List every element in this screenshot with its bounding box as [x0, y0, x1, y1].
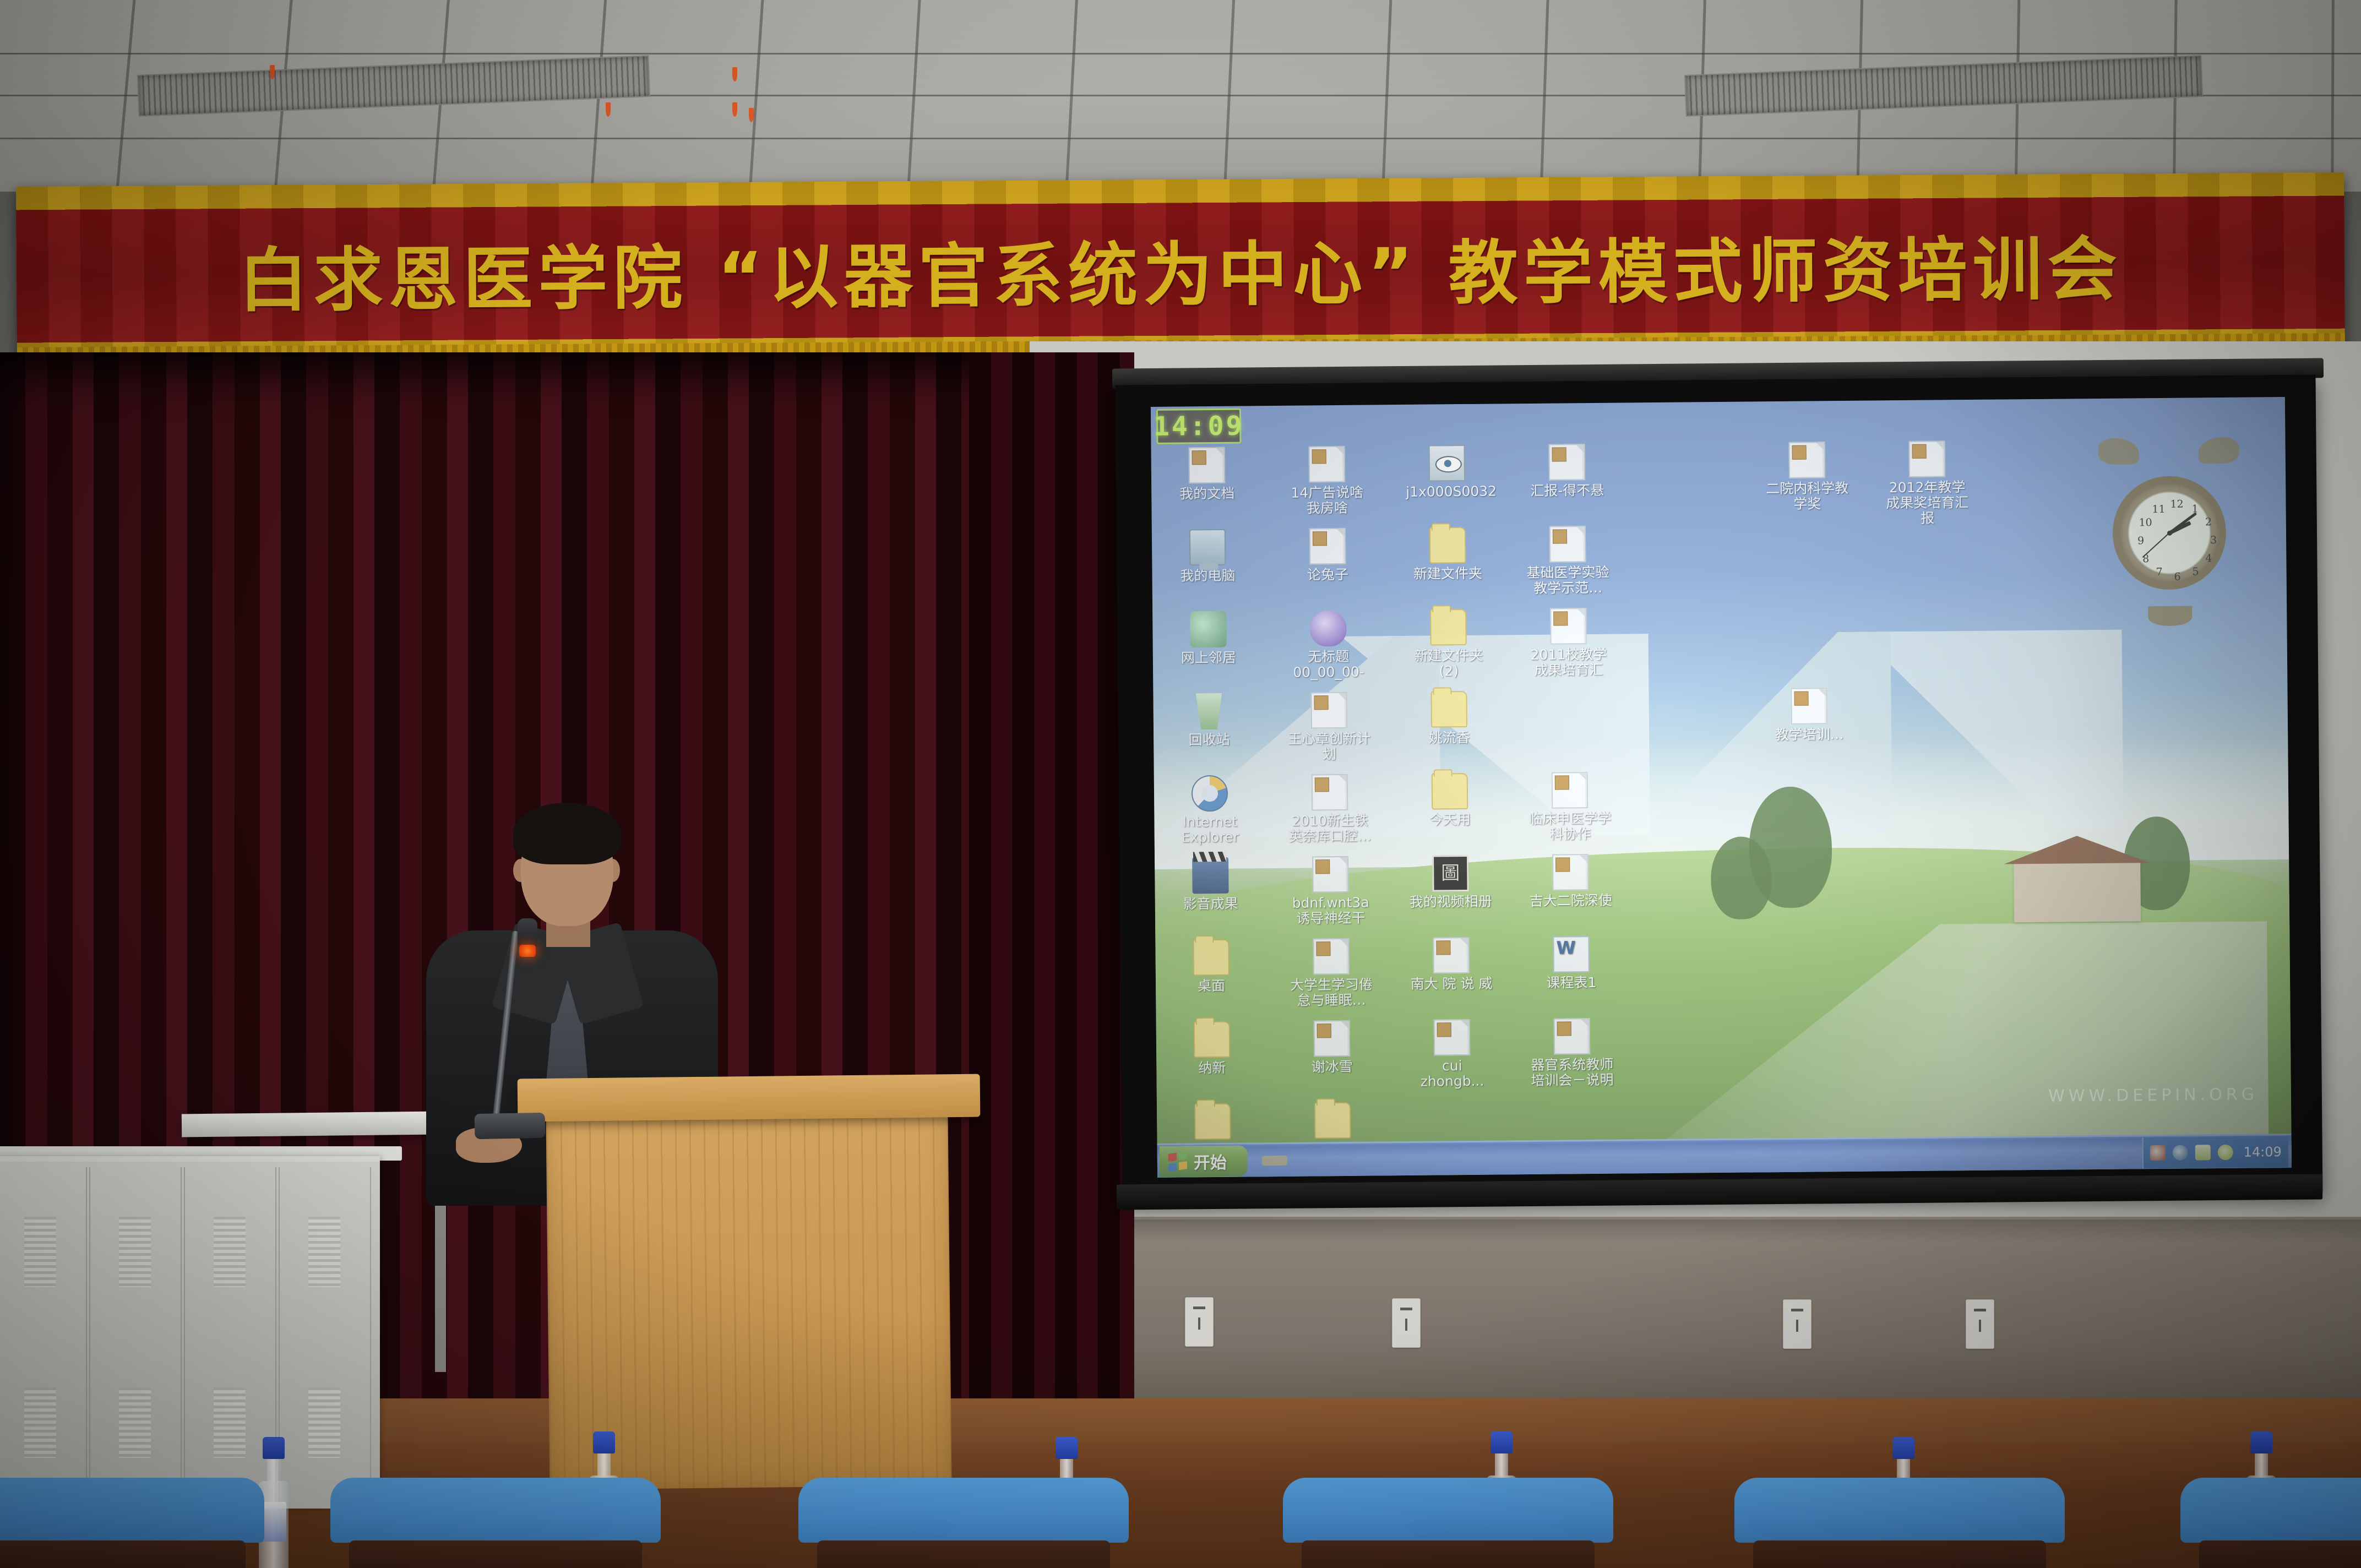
bottle-neck	[597, 1453, 611, 1476]
projection-screen: 14:09 121234567891011 WWW.DEEPIN.ORG 我的文…	[1116, 375, 2323, 1204]
ceiling-light-fixture	[1684, 55, 2203, 117]
desktop-icon[interactable]: 我的文档	[1166, 447, 1249, 502]
desktop-icon-label: 新建文件夹	[1406, 566, 1489, 582]
doc-icon	[1309, 446, 1346, 483]
folder-icon	[1429, 527, 1466, 564]
locker-door[interactable]	[0, 1167, 87, 1509]
volume-tray-icon[interactable]	[2172, 1145, 2188, 1160]
desktop-icon-label: 教学培训…	[1768, 727, 1851, 743]
desktop-icon-label: 大学生学习倦怠与睡眠…	[1290, 977, 1373, 1009]
chair-seat	[349, 1540, 642, 1568]
desktop-icon[interactable]: 课程表1	[1530, 936, 1613, 991]
desktop-icon[interactable]: 二院内科学教学奖	[1766, 442, 1849, 512]
desktop-icon[interactable]: cui zhongb...	[1411, 1019, 1494, 1090]
doc-icon	[1189, 447, 1226, 484]
clock-numeral: 7	[2152, 567, 2167, 578]
locker-door[interactable]	[279, 1167, 371, 1509]
desktop-icon-label: 2010新生铁英奈库口腔…	[1288, 813, 1371, 845]
desktop-icon[interactable]: 临床申医学学科协作	[1528, 772, 1612, 842]
desktop-icon-label: 14广告说啥我房啥	[1286, 485, 1368, 516]
clock-numeral: 4	[2201, 553, 2216, 564]
desktop-icon[interactable]: 桌面	[1169, 939, 1253, 994]
bottle-neck	[2255, 1453, 2268, 1476]
folder-icon	[1314, 1102, 1351, 1139]
chair-back	[798, 1478, 1129, 1543]
desktop-icon[interactable]: 基础医学实验教学示范…	[1526, 526, 1609, 596]
wallpaper-cottage	[2014, 861, 2141, 922]
folder-icon	[1194, 1103, 1231, 1140]
desktop-icon[interactable]: 王心章创新计划	[1287, 692, 1370, 763]
auditorium-chair	[0, 1478, 264, 1568]
desktop-icon[interactable]: 大学生学习倦怠与睡眠…	[1290, 938, 1373, 1009]
desktop-icon-label: 临床申医学学科协作	[1528, 811, 1611, 842]
clock-minute-hand	[2168, 512, 2196, 534]
doc-icon	[1434, 1019, 1471, 1056]
desktop-icon-label: 今天用	[1408, 812, 1491, 828]
desktop-icon-label: 谢冰雪	[1291, 1059, 1373, 1075]
dark-icon	[1432, 855, 1469, 892]
auditorium-chair	[330, 1478, 661, 1568]
folder-icon	[1430, 691, 1467, 728]
network-icon	[1190, 611, 1227, 648]
folder-icon	[1194, 1021, 1231, 1058]
chair-seat	[1302, 1540, 1595, 1568]
locker-vent	[308, 1387, 340, 1458]
clock-numeral: 5	[2189, 566, 2203, 577]
bottle-cap	[1056, 1437, 1078, 1459]
desktop-icon[interactable]: bdnf.wnt3a诱导神经干	[1289, 856, 1372, 927]
auditorium-chair	[2180, 1478, 2361, 1568]
doc-icon	[1314, 1020, 1351, 1057]
locker-vent	[24, 1217, 56, 1287]
desktop-icon[interactable]: 今天用	[1408, 773, 1492, 828]
ceiling-marking	[732, 102, 737, 117]
desktop-icon[interactable]: 纳新	[1171, 1021, 1254, 1076]
desktop-icon-label: 纳新	[1171, 1060, 1253, 1076]
desktop-icon-label: cui zhongb...	[1411, 1058, 1493, 1090]
desktop-icon-label: 吉大二院深使	[1530, 893, 1612, 909]
wall-outlet	[1783, 1299, 1811, 1349]
desktop-icon[interactable]: 影音成果	[1169, 857, 1252, 912]
desktop-icon-label: 课程表1	[1530, 975, 1613, 991]
desktop-icon-label: bdnf.wnt3a诱导神经干	[1290, 895, 1372, 927]
desktop-icon[interactable]: 我的视频相册	[1409, 855, 1492, 910]
desktop-icon-label: 汇报-得不悬	[1526, 483, 1608, 499]
clock-numeral: 6	[2170, 571, 2185, 582]
desktop-icon-label: 南大 院 说 威	[1410, 976, 1493, 992]
doc-icon	[1433, 937, 1470, 974]
desktop-icon-label: 我的文档	[1166, 486, 1248, 502]
desktop-icon-label: j1x000S0032	[1406, 484, 1488, 500]
wallpaper-tree	[1711, 836, 1772, 919]
desktop-icon-label: 论兔子	[1286, 567, 1369, 583]
analog-clock-gadget: 121234567891011	[2086, 436, 2253, 625]
desktop-icon-label: 我的电脑	[1166, 568, 1249, 584]
windows-logo-icon	[1168, 1151, 1187, 1172]
event-banner: 白求恩医学院 “以器官系统为中心” 教学模式师资培训会	[16, 172, 2345, 366]
ceiling-grid-line	[0, 53, 2361, 55]
desktop-icon-label: 无标题00_00_00-	[1287, 649, 1370, 680]
auditorium-chair	[1283, 1478, 1613, 1568]
desktop-icon-label: 二院内科学教学奖	[1766, 481, 1848, 512]
taskbar-clock[interactable]: 14:09	[2243, 1144, 2281, 1160]
display-tray-icon[interactable]	[2195, 1145, 2210, 1160]
desktop-icon[interactable]: 2011校教学成果培育汇	[1527, 608, 1610, 678]
desktop-icon[interactable]: 网上邻居	[1167, 611, 1250, 666]
chair-back	[2180, 1478, 2361, 1543]
locker-vent	[214, 1217, 246, 1287]
chair-back	[0, 1478, 264, 1543]
desktop-icon[interactable]: Internet Explorer	[1168, 775, 1252, 845]
chair-seat	[0, 1540, 246, 1568]
wall-outlet	[1966, 1299, 1994, 1349]
doc-icon	[1554, 1018, 1591, 1055]
chair-back	[1283, 1478, 1613, 1543]
desktop-icon-label: 基础医学实验教学示范…	[1526, 565, 1609, 596]
ceiling-marking	[732, 67, 737, 81]
desktop-icon-label: 影音成果	[1169, 896, 1252, 912]
microphone-base	[475, 1113, 546, 1139]
desktop-icon-label: 2011校教学成果培育汇	[1527, 647, 1610, 678]
desktop-icon-label: 王心章创新计划	[1288, 731, 1370, 763]
ceiling-marking	[749, 108, 754, 122]
locker-vent	[214, 1387, 246, 1458]
chair-seat	[817, 1540, 1110, 1568]
bottle-cap	[1490, 1431, 1513, 1453]
desktop-icon[interactable]: 新建文件夹 (2)	[1407, 609, 1490, 679]
qq-icon	[1310, 610, 1347, 647]
auditorium-chair	[798, 1478, 1129, 1568]
digital-clock-gadget: 14:09	[1156, 409, 1242, 444]
desktop-icon-label: 姚流香	[1408, 730, 1490, 746]
doc-icon	[1549, 444, 1586, 481]
desktop-icon[interactable]: 谢冰雪	[1291, 1020, 1374, 1075]
desktop-icon[interactable]: 南大 院 说 威	[1410, 937, 1493, 992]
clock-numeral: 10	[2139, 517, 2153, 528]
podium-top	[518, 1074, 981, 1122]
wall-shadow	[1030, 1219, 2361, 1243]
network-tray-icon[interactable]	[2150, 1145, 2166, 1160]
desktop-icon[interactable]: 新建文件夹	[1406, 527, 1489, 582]
ceiling-grid-line	[0, 138, 2361, 139]
bottle-neck	[1495, 1453, 1508, 1476]
banner-title: 白求恩医学院 “以器官系统为中心” 教学模式师资培训会	[16, 194, 2344, 344]
wall-outlet	[1185, 1297, 1214, 1347]
desktop-icon[interactable]: 回收站	[1167, 693, 1250, 748]
desktop-icon-label: 网上邻居	[1167, 650, 1250, 666]
doc-icon	[1908, 440, 1945, 477]
clock-numeral: 11	[2152, 504, 2166, 515]
doc-icon	[1550, 608, 1587, 645]
eye-icon	[1429, 445, 1466, 482]
desktop-icon[interactable]: 14广告说啥我房啥	[1286, 446, 1369, 516]
folder-icon	[1430, 609, 1467, 646]
desktop-icon[interactable]: 2010新生铁英奈库口腔…	[1288, 774, 1372, 845]
quick-launch-icon[interactable]	[1262, 1155, 1287, 1165]
desktop-icon[interactable]: j1x000S0032	[1406, 445, 1489, 500]
bottle-cap	[1892, 1437, 1914, 1459]
microphone-led-indicator	[519, 945, 536, 957]
folder-icon	[1432, 773, 1468, 810]
desktop-icon[interactable]: 论兔子	[1286, 528, 1369, 583]
stage-curtain-right	[969, 352, 1134, 1442]
doc-icon	[1549, 526, 1586, 563]
locker-vent	[119, 1217, 151, 1287]
bottle-cap	[2250, 1431, 2272, 1453]
wall-outlet	[1392, 1298, 1421, 1348]
desktop-icon-label: 我的视频相册	[1410, 894, 1492, 910]
system-tray[interactable]: 14:09	[2142, 1136, 2288, 1168]
ceiling	[0, 0, 2361, 192]
desktop-icon-label: 2012年教学成果奖培育汇报	[1886, 480, 1969, 526]
desktop-icon-label: 器官系统教师培训会－说明	[1531, 1057, 1613, 1088]
chair-back	[1734, 1478, 2065, 1543]
bottle-cap	[593, 1431, 615, 1453]
start-button[interactable]: 开始	[1160, 1145, 1248, 1177]
desktop-icon-label: 桌面	[1170, 978, 1253, 994]
chair-seat	[1753, 1540, 2046, 1568]
desktop-icon-label: Internet Explorer	[1168, 814, 1251, 845]
locker-door[interactable]	[89, 1167, 182, 1509]
desktop-icon-label: 回收站	[1168, 732, 1250, 748]
desktop-icon[interactable]: 器官系统教师培训会－说明	[1531, 1018, 1614, 1088]
ceiling-marking	[270, 65, 275, 79]
locker-vent	[308, 1217, 340, 1287]
media-icon	[1192, 857, 1229, 894]
ie-icon	[1192, 775, 1228, 812]
doc-icon	[1552, 772, 1588, 809]
doc-icon	[1313, 938, 1350, 975]
shield-tray-icon[interactable]	[2217, 1144, 2233, 1159]
desktop-icon[interactable]: 无标题00_00_00-	[1287, 610, 1370, 680]
ceiling-marking	[606, 102, 611, 117]
start-button-label: 开始	[1194, 1148, 1227, 1173]
desktop-icon[interactable]: 2012年教学成果奖培育汇报	[1885, 440, 1968, 526]
locker-vent	[24, 1387, 56, 1458]
clock-pivot	[2167, 531, 2172, 536]
doc-icon	[1310, 692, 1347, 729]
doc-icon	[1552, 854, 1589, 891]
bottle-label	[261, 1502, 286, 1542]
ceiling-grid-line	[2331, 0, 2335, 192]
projected-desktop[interactable]: 14:09 121234567891011 WWW.DEEPIN.ORG 我的文…	[1151, 397, 2292, 1178]
pc-icon	[1189, 529, 1226, 566]
doc-icon	[1312, 856, 1349, 893]
clock-numeral: 9	[2134, 535, 2148, 546]
lecture-hall-photo: 白求恩医学院 “以器官系统为中心” 教学模式师资培训会 14:09	[0, 0, 2361, 1568]
desktop-icon[interactable]: 教学培训…	[1767, 688, 1851, 743]
ceiling-light-fixture	[137, 55, 650, 117]
auditorium-chair	[1734, 1478, 2065, 1568]
metal-lockers	[0, 1156, 380, 1509]
bottle-cap	[263, 1437, 285, 1459]
doc-icon	[1791, 688, 1827, 725]
desktop-icon[interactable]: 姚流香	[1407, 691, 1490, 746]
bottle-neck	[267, 1459, 280, 1481]
desktop-icon[interactable]: 汇报-得不悬	[1526, 444, 1609, 499]
chair-seat	[2199, 1540, 2361, 1568]
wall-base	[1030, 1217, 2361, 1398]
presenter-hair	[513, 803, 621, 864]
desktop-icon[interactable]: 我的电脑	[1166, 529, 1249, 584]
doc-icon	[1312, 774, 1348, 811]
clock-numeral: 2	[2201, 516, 2216, 527]
doc-icon	[1789, 442, 1826, 478]
deepin-watermark: WWW.DEEPIN.ORG	[2048, 1085, 2258, 1106]
clock-numeral: 12	[2169, 499, 2184, 510]
folder-icon	[1193, 939, 1230, 976]
doc-icon	[1309, 528, 1346, 565]
desktop-icon-label: 新建文件夹 (2)	[1407, 648, 1490, 679]
desktop-icon[interactable]: 吉大二院深使	[1529, 854, 1612, 909]
clock-numeral: 3	[2206, 535, 2221, 546]
recycle-icon	[1190, 693, 1227, 730]
chair-back	[330, 1478, 661, 1543]
locker-vent	[119, 1387, 151, 1458]
word-icon	[1553, 936, 1590, 973]
